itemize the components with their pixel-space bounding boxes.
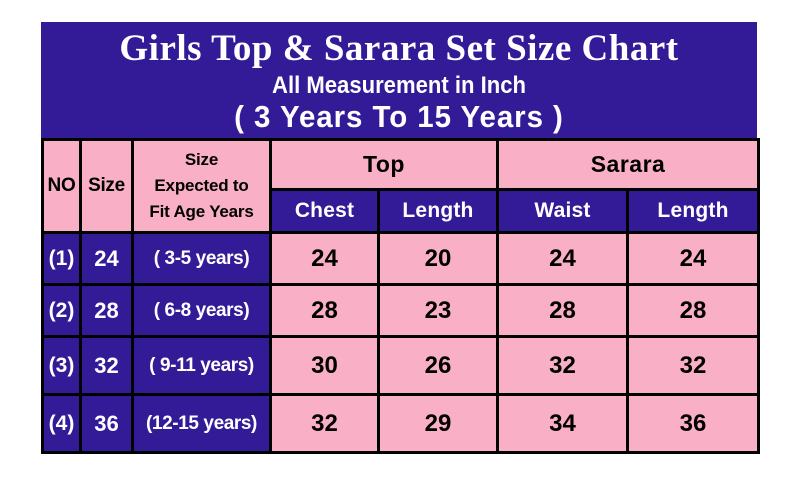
header-cell-size: Size [81, 140, 133, 233]
cell-no: (3) [43, 337, 81, 395]
header-group-sarara: Sarara [498, 140, 759, 190]
cell-sarara-length: 36 [628, 395, 759, 453]
header-group-top: Top [271, 140, 498, 190]
cell-top-length: 23 [379, 285, 498, 337]
cell-top-length: 26 [379, 337, 498, 395]
size-chart-image: Girls Top & Sarara Set Size Chart All Me… [41, 22, 757, 447]
header-cell-top-chest: Chest [271, 190, 379, 233]
cell-no: (4) [43, 395, 81, 453]
cell-sarara-waist: 32 [498, 337, 628, 395]
table-row: (3) 32 ( 9-11 years) 30 26 32 32 [43, 337, 759, 395]
table-header-row-groups: NO Size Size Expected to Fit Age Years T… [43, 140, 759, 190]
cell-top-length: 20 [379, 233, 498, 285]
chart-subtitle-measurement-unit: All Measurement in Inch [70, 72, 729, 99]
cell-sarara-waist: 34 [498, 395, 628, 453]
cell-no: (2) [43, 285, 81, 337]
cell-sarara-length: 32 [628, 337, 759, 395]
cell-sarara-length: 28 [628, 285, 759, 337]
cell-top-chest: 32 [271, 395, 379, 453]
cell-size: 36 [81, 395, 133, 453]
table-row: (1) 24 ( 3-5 years) 24 20 24 24 [43, 233, 759, 285]
chart-title: Girls Top & Sarara Set Size Chart [41, 22, 757, 72]
cell-age: ( 9-11 years) [133, 337, 271, 395]
cell-age: ( 6-8 years) [133, 285, 271, 337]
cell-age: ( 3-5 years) [133, 233, 271, 285]
cell-top-length: 29 [379, 395, 498, 453]
cell-size: 28 [81, 285, 133, 337]
table-row: (2) 28 ( 6-8 years) 28 23 28 28 [43, 285, 759, 337]
cell-size: 32 [81, 337, 133, 395]
cell-top-chest: 30 [271, 337, 379, 395]
chart-banner: Girls Top & Sarara Set Size Chart All Me… [41, 22, 757, 138]
header-cell-age-line1: Size [134, 147, 269, 173]
table-row: (4) 36 (12-15 years) 32 29 34 36 [43, 395, 759, 453]
cell-sarara-waist: 28 [498, 285, 628, 337]
header-cell-sarara-length: Length [628, 190, 759, 233]
chart-subtitle-age-range: ( 3 Years To 15 Years ) [59, 99, 739, 135]
cell-size: 24 [81, 233, 133, 285]
cell-top-chest: 28 [271, 285, 379, 337]
cell-sarara-length: 24 [628, 233, 759, 285]
header-cell-top-length: Length [379, 190, 498, 233]
size-chart-table: NO Size Size Expected to Fit Age Years T… [41, 138, 760, 454]
header-cell-age: Size Expected to Fit Age Years [133, 140, 271, 233]
header-cell-age-line3: Fit Age Years [134, 199, 269, 225]
cell-no: (1) [43, 233, 81, 285]
header-cell-no: NO [43, 140, 81, 233]
cell-age: (12-15 years) [133, 395, 271, 453]
header-cell-age-line2: Expected to [134, 173, 269, 199]
cell-sarara-waist: 24 [498, 233, 628, 285]
header-cell-sarara-waist: Waist [498, 190, 628, 233]
cell-top-chest: 24 [271, 233, 379, 285]
